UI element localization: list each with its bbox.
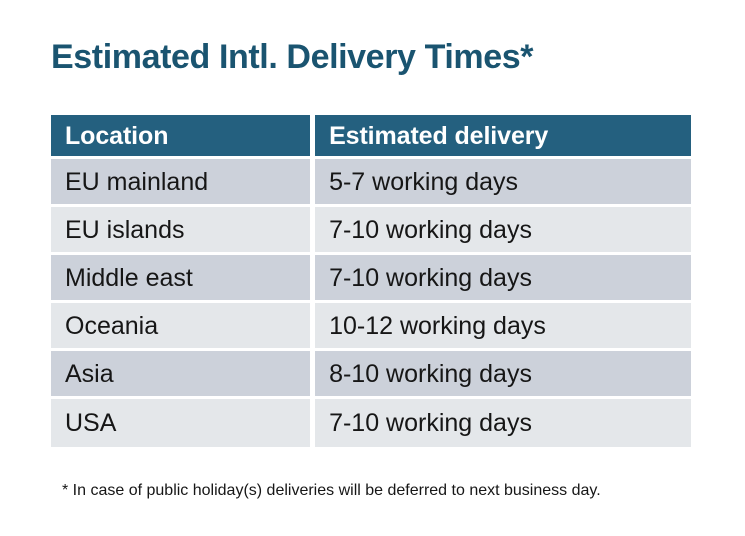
table-row: Oceania 10-12 working days: [51, 303, 691, 351]
estimated-delivery-table: Location Estimated delivery EU mainland …: [51, 115, 691, 447]
cell-estimated-delivery: 7-10 working days: [315, 399, 691, 447]
table-row: Asia 8-10 working days: [51, 351, 691, 399]
table-row: EU mainland 5-7 working days: [51, 159, 691, 207]
column-header-estimated-delivery: Estimated delivery: [315, 115, 691, 159]
cell-location: USA: [51, 399, 315, 447]
cell-location: Asia: [51, 351, 315, 399]
cell-estimated-delivery: 7-10 working days: [315, 255, 691, 303]
cell-estimated-delivery: 8-10 working days: [315, 351, 691, 399]
footnote: * In case of public holiday(s) deliverie…: [62, 480, 601, 502]
table-row: Middle east 7-10 working days: [51, 255, 691, 303]
page-title: Estimated Intl. Delivery Times*: [51, 36, 533, 78]
table-body: EU mainland 5-7 working days EU islands …: [51, 159, 691, 447]
cell-location: EU islands: [51, 207, 315, 255]
cell-location: EU mainland: [51, 159, 315, 207]
cell-location: Middle east: [51, 255, 315, 303]
cell-estimated-delivery: 5-7 working days: [315, 159, 691, 207]
column-header-location: Location: [51, 115, 315, 159]
table-header-row: Location Estimated delivery: [51, 115, 691, 159]
cell-estimated-delivery: 7-10 working days: [315, 207, 691, 255]
cell-location: Oceania: [51, 303, 315, 351]
cell-estimated-delivery: 10-12 working days: [315, 303, 691, 351]
delivery-times-page: Estimated Intl. Delivery Times* Location…: [0, 0, 745, 536]
table-header: Location Estimated delivery: [51, 115, 691, 159]
table-row: EU islands 7-10 working days: [51, 207, 691, 255]
table-row: USA 7-10 working days: [51, 399, 691, 447]
